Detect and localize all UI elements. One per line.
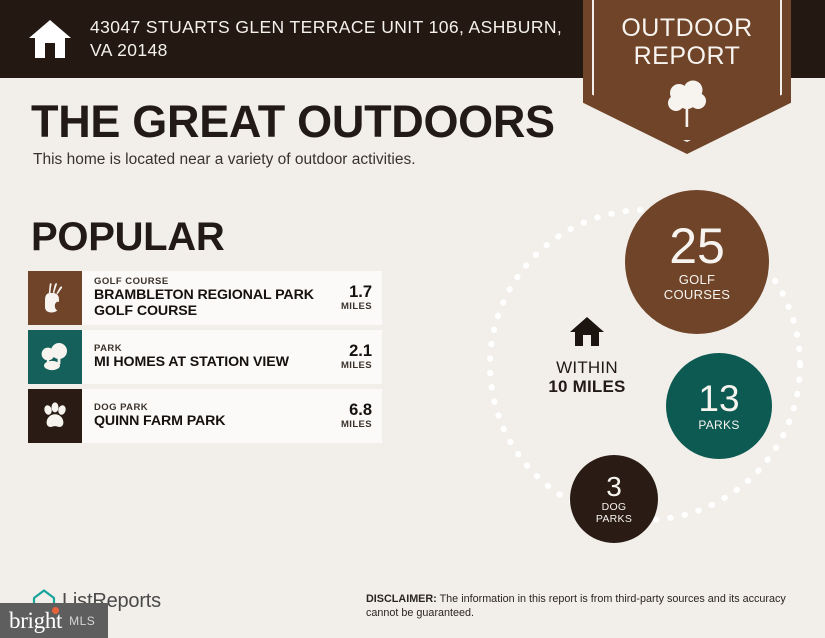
list-item-distance: 2.1 MILES: [335, 343, 372, 371]
badge-title: OUTDOOR REPORT: [583, 14, 791, 70]
stat-circle-golf-courses: 25 GOLF COURSES: [625, 190, 769, 334]
dog-parks-count: 3: [606, 473, 622, 501]
outdoor-report-page: 43047 STUARTS GLEN TERRACE UNIT 106, ASH…: [0, 0, 825, 638]
list-item[interactable]: DOG PARK QUINN FARM PARK 6.8 MILES: [28, 389, 382, 443]
golf-label-line1: GOLF: [664, 273, 730, 288]
popular-list: GOLF COURSE BRAMBLETON REGIONAL PARK GOL…: [28, 271, 382, 448]
page-title: THE GREAT OUTDOORS: [31, 96, 555, 148]
popular-heading: POPULAR: [31, 215, 224, 260]
home-icon: [527, 316, 647, 353]
bright-dot-accent: [52, 607, 59, 614]
disclaimer-label: DISCLAIMER:: [366, 593, 437, 605]
list-item-text: GOLF COURSE BRAMBLETON REGIONAL PARK GOL…: [94, 276, 335, 320]
distance-unit: MILES: [341, 360, 372, 371]
list-item-name: BRAMBLETON REGIONAL PARK GOLF COURSE: [94, 288, 335, 320]
bright-mls-watermark: bright MLS: [0, 603, 108, 638]
home-icon: [28, 17, 72, 61]
stat-circle-parks: 13 PARKS: [666, 353, 772, 459]
page-subtitle: This home is located near a variety of o…: [33, 151, 416, 169]
distance-value: 6.8: [341, 402, 372, 419]
dog-label-line1: DOG: [596, 502, 632, 514]
disclaimer: DISCLAIMER: The information in this repo…: [366, 592, 814, 621]
list-item-name: MI HOMES AT STATION VIEW: [94, 355, 289, 371]
list-item-body: PARK MI HOMES AT STATION VIEW 2.1 MILES: [82, 330, 382, 384]
dog-label-line2: PARKS: [596, 514, 632, 526]
list-item[interactable]: PARK MI HOMES AT STATION VIEW 2.1 MILES: [28, 330, 382, 384]
paw-print-icon: [28, 389, 82, 443]
list-item[interactable]: GOLF COURSE BRAMBLETON REGIONAL PARK GOL…: [28, 271, 382, 325]
outdoor-report-badge: OUTDOOR REPORT: [583, 0, 791, 154]
distance-value: 2.1: [341, 343, 372, 360]
distance-value: 1.7: [341, 284, 372, 301]
golf-bag-icon: [28, 271, 82, 325]
list-item-text: PARK MI HOMES AT STATION VIEW: [94, 343, 289, 371]
trees-icon: [28, 330, 82, 384]
stat-circle-dog-parks: 3 DOG PARKS: [570, 455, 658, 543]
within-center-label: WITHIN 10 MILES: [527, 316, 647, 396]
golf-courses-count: 25: [669, 221, 725, 271]
list-item-name: QUINN FARM PARK: [94, 414, 225, 430]
golf-courses-label: GOLF COURSES: [664, 273, 730, 302]
list-item-body: GOLF COURSE BRAMBLETON REGIONAL PARK GOL…: [82, 271, 382, 325]
badge-title-line2: REPORT: [583, 42, 791, 70]
tree-icon: [583, 79, 791, 134]
badge-title-line1: OUTDOOR: [583, 14, 791, 42]
list-item-text: DOG PARK QUINN FARM PARK: [94, 402, 225, 430]
list-item-distance: 1.7 MILES: [335, 284, 372, 312]
dog-parks-label: DOG PARKS: [596, 502, 632, 526]
within-line2: 10 MILES: [527, 377, 647, 396]
parks-count: 13: [698, 380, 739, 417]
distance-unit: MILES: [341, 301, 372, 312]
list-item-distance: 6.8 MILES: [335, 402, 372, 430]
golf-label-line2: COURSES: [664, 288, 730, 303]
property-address: 43047 STUARTS GLEN TERRACE UNIT 106, ASH…: [90, 16, 580, 62]
distance-unit: MILES: [341, 419, 372, 430]
mls-suffix: MLS: [69, 614, 95, 628]
parks-label: PARKS: [698, 419, 739, 432]
within-line1: WITHIN: [527, 358, 647, 377]
list-item-body: DOG PARK QUINN FARM PARK 6.8 MILES: [82, 389, 382, 443]
within-10-miles-infographic: WITHIN 10 MILES 25 GOLF COURSES 13 PARKS…: [470, 170, 825, 570]
